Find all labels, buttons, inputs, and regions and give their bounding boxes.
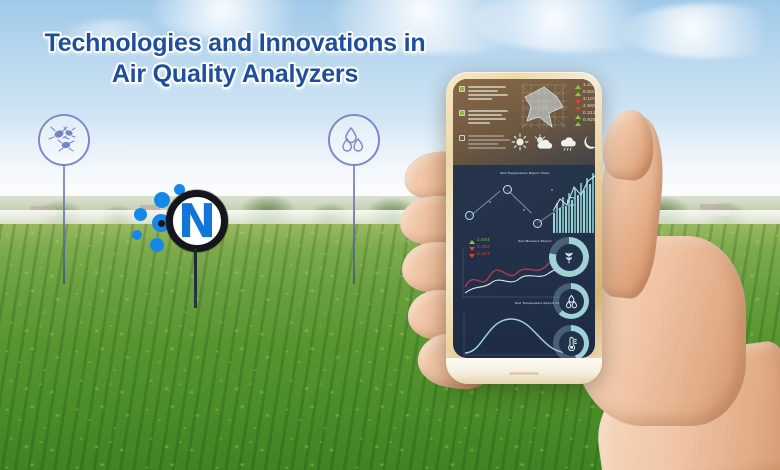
checkbox-checked[interactable] bbox=[459, 110, 465, 116]
logo-dot bbox=[150, 238, 164, 252]
moon-icon[interactable] bbox=[582, 134, 595, 151]
thermometer-icon bbox=[564, 336, 578, 351]
kpi-list: 1.234 0.832 3.107 4.560 0.312 0.925 bbox=[575, 83, 595, 129]
phone-bottom-bezel bbox=[446, 358, 602, 384]
logo-letter: N bbox=[166, 190, 228, 252]
brand-logo[interactable]: N bbox=[128, 190, 238, 316]
network-node bbox=[533, 219, 542, 228]
crop-growth-ring[interactable] bbox=[549, 237, 589, 277]
crop-yield-bar-chart bbox=[553, 171, 595, 233]
logo-dot bbox=[134, 208, 147, 221]
logo-dot-accent bbox=[158, 220, 165, 227]
soil-quality-radar-chart bbox=[519, 83, 569, 131]
network-node bbox=[503, 185, 512, 194]
checklist[interactable] bbox=[459, 85, 511, 161]
phone-speaker bbox=[509, 372, 539, 375]
logo-dot bbox=[154, 192, 170, 208]
title-line-2: Air Quality Analyzers bbox=[0, 59, 470, 90]
smartphone-in-hand[interactable]: 1.234 0.832 3.107 4.560 0.312 0.925 bbox=[446, 72, 602, 384]
marker-pole bbox=[63, 164, 65, 284]
logo-ring: N bbox=[166, 190, 228, 252]
temperature-ring[interactable] bbox=[553, 325, 589, 358]
marker-disc bbox=[38, 114, 90, 166]
marker-pole bbox=[353, 164, 355, 284]
insect-icon bbox=[47, 125, 81, 155]
cloud-rain-icon[interactable] bbox=[558, 134, 578, 151]
moisture-sensor-marker[interactable] bbox=[328, 114, 380, 284]
page-title: Technologies and Innovations in Air Qual… bbox=[0, 28, 470, 90]
line-chart-title: Soil Moisture Report bbox=[511, 239, 559, 243]
network-chart-title: Soil Temperature Report Chart bbox=[497, 171, 553, 175]
phone-screen[interactable]: 1.234 0.832 3.107 4.560 0.312 0.925 bbox=[453, 79, 595, 358]
logo-pole bbox=[194, 248, 197, 308]
network-node bbox=[465, 211, 474, 220]
checkbox-unchecked[interactable] bbox=[459, 135, 465, 141]
logo-dot bbox=[132, 230, 142, 240]
sensor-network-chart bbox=[459, 179, 563, 235]
title-line-1: Technologies and Innovations in bbox=[0, 28, 470, 59]
water-level-ring[interactable] bbox=[553, 283, 589, 319]
partly-cloudy-icon[interactable] bbox=[534, 133, 554, 151]
sun-icon[interactable] bbox=[511, 133, 529, 151]
water-drop-icon bbox=[338, 125, 370, 155]
pest-sensor-marker[interactable] bbox=[38, 114, 90, 284]
water-drops-icon bbox=[564, 294, 579, 309]
plant-icon bbox=[561, 249, 577, 265]
marker-disc bbox=[328, 114, 380, 166]
banner-stage: Technologies and Innovations in Air Qual… bbox=[0, 0, 780, 470]
weather-icon-row[interactable] bbox=[511, 133, 595, 159]
